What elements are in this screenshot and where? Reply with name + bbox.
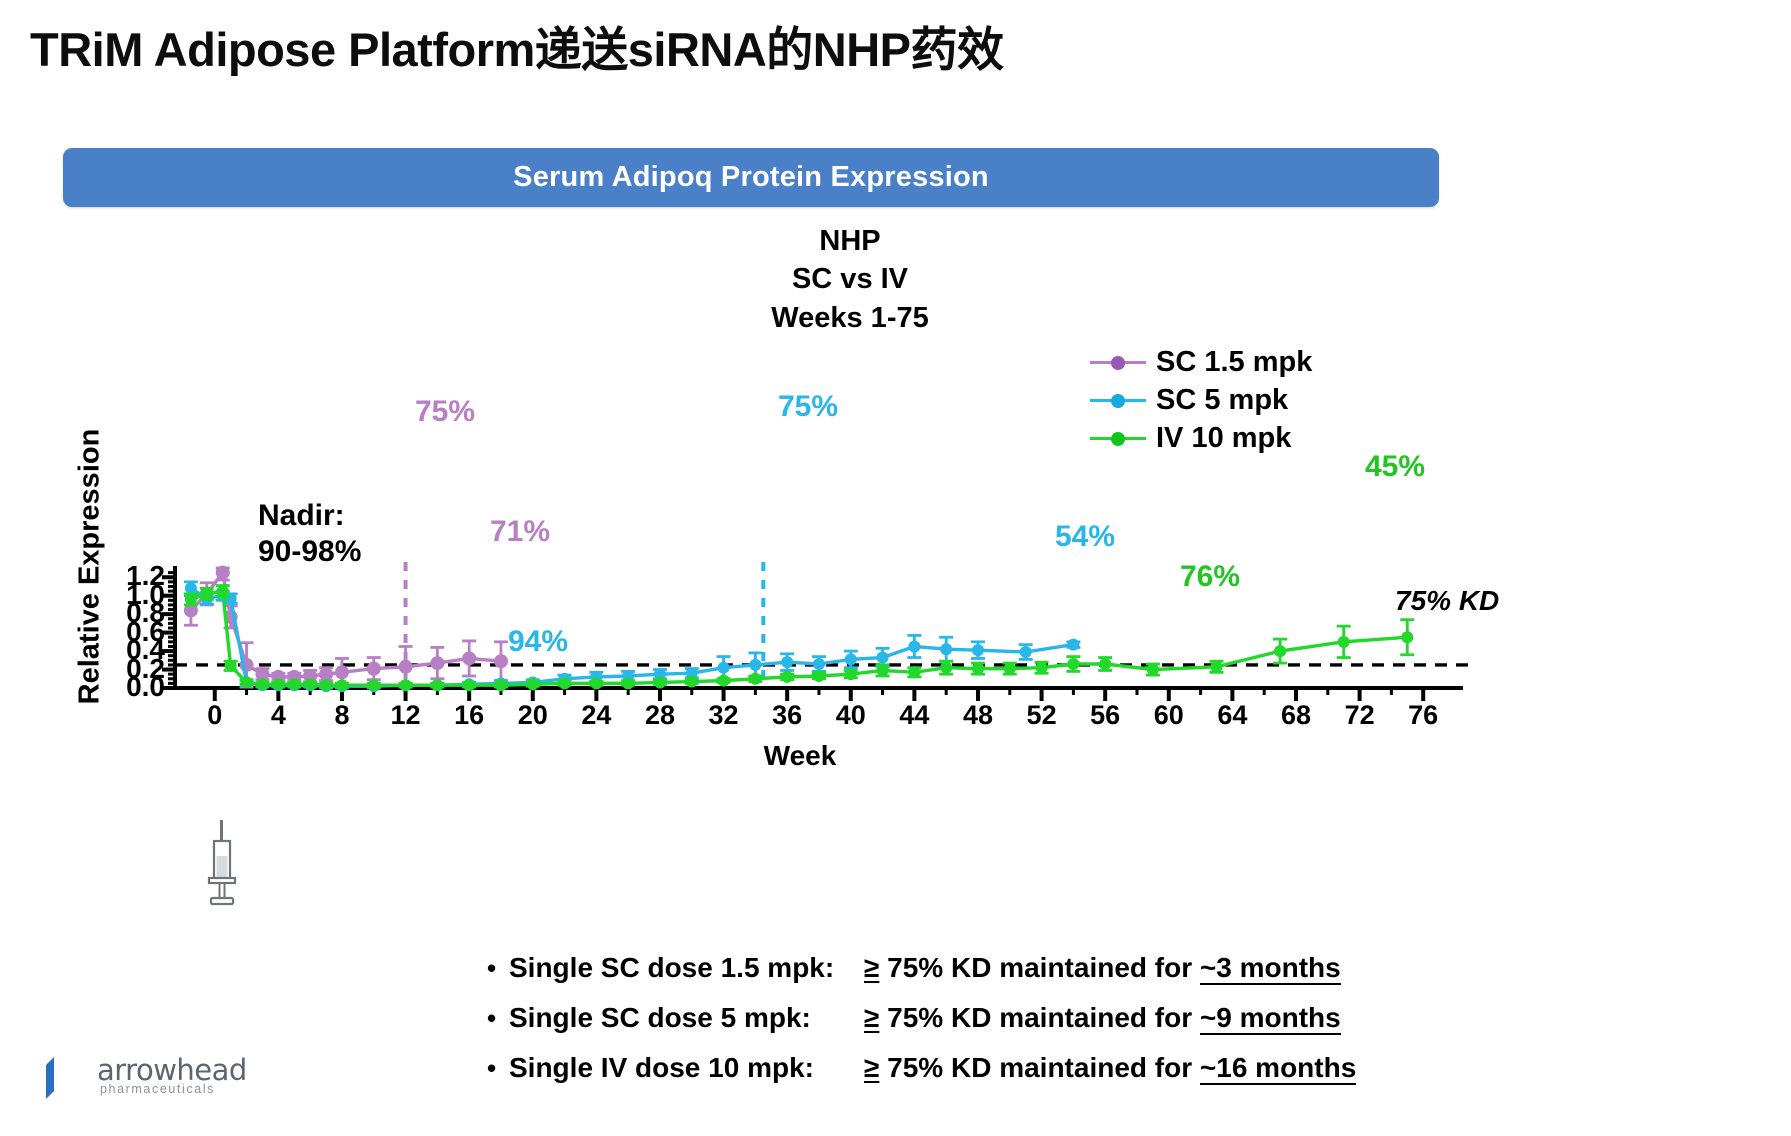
arrowhead-logo-icon xyxy=(40,1055,80,1101)
series-iv-10-mpk xyxy=(184,585,1414,691)
syringe-icon xyxy=(196,818,256,908)
x-tick-label: 24 xyxy=(571,700,621,731)
annotation-pct-94: 94% xyxy=(508,625,568,659)
x-tick-label: 52 xyxy=(1017,700,1067,731)
bullet-lead-1: Single SC dose 1.5 mpk: xyxy=(509,952,864,984)
annotation-nadir: Nadir: 90-98% xyxy=(258,498,361,570)
logo-tagline: pharmaceuticals xyxy=(100,1082,215,1096)
x-tick-label: 32 xyxy=(699,700,749,731)
annotation-nadir-line2: 90-98% xyxy=(258,534,361,570)
x-tick-label: 72 xyxy=(1335,700,1385,731)
x-tick-label: 60 xyxy=(1144,700,1194,731)
x-tick-label: 44 xyxy=(889,700,939,731)
bullet-rest-2: ≥ 75% KD maintained for ~9 months xyxy=(864,1002,1341,1034)
x-tick-label: 40 xyxy=(826,700,876,731)
annotation-pct-54: 54% xyxy=(1055,520,1115,554)
x-tick-label: 76 xyxy=(1398,700,1448,731)
x-tick-label: 56 xyxy=(1080,700,1130,731)
list-item: • Single SC dose 5 mpk: ≥ 75% KD maintai… xyxy=(487,1002,1487,1052)
x-tick-label: 20 xyxy=(508,700,558,731)
bullet-rest-3: ≥ 75% KD maintained for ~16 months xyxy=(864,1052,1356,1084)
bullet-dot-icon: • xyxy=(487,1055,509,1081)
x-tick-label: 16 xyxy=(444,700,494,731)
bullet-dot-icon: • xyxy=(487,955,509,981)
bullet-mid-3: 75% KD maintained for xyxy=(879,1052,1200,1083)
bullet-lead-3: Single IV dose 10 mpk: xyxy=(509,1052,864,1084)
company-logo: arrowhead pharmaceuticals xyxy=(40,1055,270,1103)
bullet-ge-2: ≥ xyxy=(864,1002,879,1033)
bullet-lead-2: Single SC dose 5 mpk: xyxy=(509,1002,864,1034)
page-title: TRiM Adipose Platform递送siRNA的NHP药效 xyxy=(30,24,1530,76)
annotation-pct-76: 76% xyxy=(1180,560,1240,594)
list-item: • Single IV dose 10 mpk: ≥ 75% KD mainta… xyxy=(487,1052,1487,1102)
summary-bullet-list: • Single SC dose 1.5 mpk: ≥ 75% KD maint… xyxy=(487,952,1487,1102)
list-item: • Single SC dose 1.5 mpk: ≥ 75% KD maint… xyxy=(487,952,1487,1002)
annotation-75-purple: 75% xyxy=(415,395,475,429)
annotation-nadir-line1: Nadir: xyxy=(258,498,361,534)
bullet-underlined-3: ~16 months xyxy=(1200,1052,1356,1085)
chart-container: NHP SC vs IV Weeks 1-75 SC 1.5 mpk SC 5 … xyxy=(0,210,1791,820)
annotation-75-cyan: 75% xyxy=(778,390,838,424)
bullet-underlined-2: ~9 months xyxy=(1200,1002,1341,1035)
annotation-pct-45: 45% xyxy=(1365,450,1425,484)
x-tick-label: 48 xyxy=(953,700,1003,731)
y-tick-label: 1.2 xyxy=(95,560,165,592)
bullet-mid-2: 75% KD maintained for xyxy=(879,1002,1200,1033)
x-tick-label: 68 xyxy=(1271,700,1321,731)
bullet-underlined-1: ~3 months xyxy=(1200,952,1341,985)
x-tick-label: 28 xyxy=(635,700,685,731)
plot-axes xyxy=(162,566,1463,701)
x-tick-label: 36 xyxy=(762,700,812,731)
bullet-ge-1: ≥ xyxy=(864,952,879,983)
bullet-mid-1: 75% KD maintained for xyxy=(879,952,1200,983)
bullet-rest-1: ≥ 75% KD maintained for ~3 months xyxy=(864,952,1341,984)
x-tick-label: 12 xyxy=(381,700,431,731)
x-tick-label: 64 xyxy=(1207,700,1257,731)
bullet-ge-3: ≥ xyxy=(864,1052,879,1083)
slide-root: TRiM Adipose Platform递送siRNA的NHP药效 Serum… xyxy=(0,0,1791,1136)
section-banner-title: Serum Adipoq Protein Expression xyxy=(63,148,1439,207)
bullet-dot-icon: • xyxy=(487,1005,509,1031)
annotation-kd-threshold: 75% KD xyxy=(1395,585,1499,617)
x-tick-label: 0 xyxy=(190,700,240,731)
annotation-pct-71: 71% xyxy=(490,515,550,549)
x-tick-label: 8 xyxy=(317,700,367,731)
x-tick-label: 4 xyxy=(253,700,303,731)
section-banner: Serum Adipoq Protein Expression xyxy=(63,148,1439,207)
